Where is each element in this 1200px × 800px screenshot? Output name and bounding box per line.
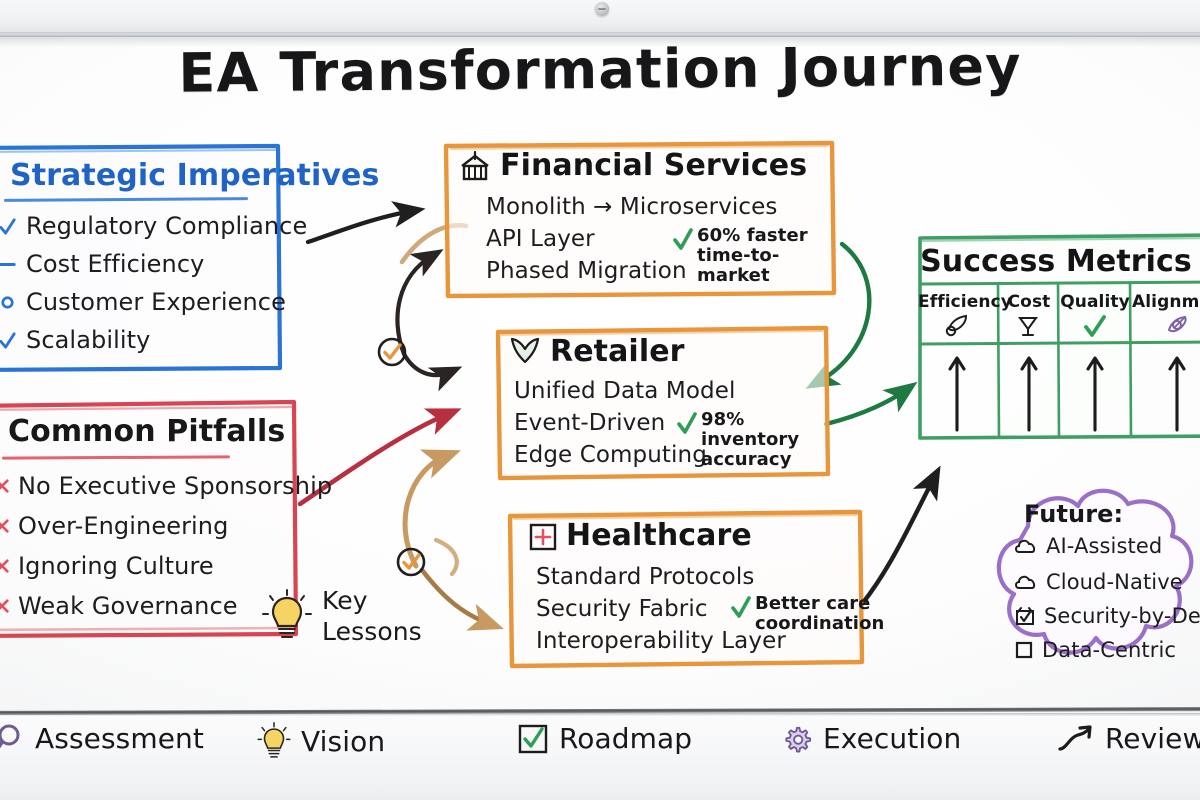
metric-column-header: Alignment: [1132, 292, 1200, 312]
rocket-icon: [944, 314, 970, 338]
case-line: Security Fabric: [536, 596, 708, 622]
check-icon: [0, 217, 17, 236]
pitfalls-item-3[interactable]: Weak Governance: [0, 592, 238, 620]
page-title: EA Transformation Journey: [0, 33, 1200, 106]
up-arrow-icon: [946, 352, 968, 432]
up-arrow-icon: [1018, 352, 1040, 432]
strategic-item-label: Scalability: [26, 326, 150, 354]
shopping-bag-icon: [508, 336, 542, 368]
hospital-icon: [528, 522, 558, 552]
key-lessons-line-2: Lessons: [322, 617, 422, 648]
strategic-item-label: Customer Experience: [26, 288, 286, 316]
metric-column-header: Cost: [1000, 292, 1058, 312]
future-item-1[interactable]: Cloud-Native: [1014, 570, 1183, 594]
strategic-item-3[interactable]: Scalability: [0, 326, 150, 354]
case-card-financial-services: Financial Services Monolith → Microservi…: [440, 138, 838, 300]
trending-up-icon: [1058, 725, 1094, 753]
key-lessons-line-1: Key: [322, 586, 422, 617]
pitfalls-item-label: Weak Governance: [18, 592, 238, 620]
cloud-icon: [1014, 573, 1038, 591]
process-step-roadmap[interactable]: Roadmap: [518, 722, 692, 755]
pitfalls-item-label: Ignoring Culture: [18, 552, 214, 580]
square-icon: [1014, 640, 1034, 660]
strategic-item-label: Regulatory Compliance: [26, 212, 307, 240]
check-icon: [730, 595, 752, 619]
metric-column-header: Quality: [1060, 292, 1130, 312]
pitfalls-item-2[interactable]: Ignoring Culture: [0, 552, 214, 580]
pitfalls-item-0[interactable]: No Executive Sponsorship: [0, 472, 332, 500]
strategic-underline: [4, 197, 248, 202]
case-result-text: 60% faster time-to-market: [697, 226, 838, 286]
process-step-execution[interactable]: Execution: [782, 722, 961, 755]
strategic-item-2[interactable]: Customer Experience: [0, 288, 286, 316]
key-lessons-annotation: Key Lessons: [262, 582, 422, 660]
pitfalls-heading: Common Pitfalls: [8, 414, 285, 449]
case-title: Healthcare: [566, 518, 752, 553]
future-item-label: Security-by-Design: [1044, 604, 1200, 628]
pitfalls-underline: [2, 455, 230, 459]
process-step-label: Execution: [823, 722, 961, 755]
case-line: Monolith → Microservices: [486, 194, 778, 220]
case-title: Retailer: [550, 334, 685, 369]
bank-icon: [458, 150, 492, 184]
pitfalls-item-label: No Executive Sponsorship: [18, 472, 332, 500]
future-item-label: Cloud-Native: [1046, 570, 1183, 594]
shield-check-icon: [1014, 606, 1036, 626]
key-lessons-label: Key Lessons: [322, 586, 422, 647]
dash-icon: [0, 255, 17, 274]
arrow-strategic-to-financial: [308, 211, 412, 242]
strategic-heading: Strategic Imperatives: [10, 158, 379, 193]
process-step-label: Review: [1105, 722, 1200, 755]
strategic-item-1[interactable]: Cost Efficiency: [0, 250, 204, 278]
strategic-imperatives-card: Strategic Imperatives Regulatory Complia…: [0, 142, 286, 374]
metrics-title: Success Metrics: [912, 244, 1200, 279]
target-icon: [1164, 314, 1190, 338]
arrow-retailer-to-metrics: [826, 390, 906, 424]
up-arrow-icon: [1084, 352, 1106, 432]
case-line: Event-Driven: [514, 410, 665, 436]
magnifier-icon: [0, 723, 24, 755]
strategic-item-label: Cost Efficiency: [26, 250, 204, 278]
cross-icon: [0, 598, 10, 614]
case-line: Standard Protocols: [536, 564, 754, 590]
future-item-0[interactable]: AI-Assisted: [1014, 534, 1162, 558]
case-result-text: 98% inventory accuracy: [701, 410, 832, 470]
case-card-healthcare: Healthcare Standard Protocols Security F…: [504, 508, 866, 670]
success-metrics-table: Success Metrics Efficiency Cost Quality: [912, 232, 1200, 440]
process-step-vision[interactable]: Vision: [258, 722, 385, 760]
case-result-badge: 60% faster time-to-market: [672, 226, 838, 286]
case-card-retailer: Retailer Unified Data Model Event-Driven…: [492, 324, 832, 482]
arrow-healthcare-to-metrics: [862, 478, 934, 604]
cross-icon: [0, 478, 10, 494]
case-result-badge: Better care coordination: [730, 594, 884, 634]
future-heading: Future:: [1024, 500, 1123, 528]
future-item-label: Data-Centric: [1042, 638, 1176, 662]
case-line: Phased Migration: [486, 258, 687, 284]
future-cloud-card: Future: AI-Assisted Cloud-Native: [984, 478, 1200, 674]
orange-check-badge-2: [398, 549, 424, 575]
process-step-label: Vision: [301, 725, 385, 758]
future-item-3[interactable]: Data-Centric: [1014, 638, 1176, 662]
up-arrow-icon: [1166, 352, 1188, 432]
case-line: API Layer: [486, 226, 595, 252]
case-title: Financial Services: [500, 148, 807, 183]
check-icon: [0, 331, 17, 350]
process-step-review[interactable]: Review: [1058, 722, 1200, 755]
lightbulb-icon: [258, 722, 290, 760]
future-item-label: AI-Assisted: [1046, 534, 1162, 558]
funnel-icon: [1016, 314, 1040, 338]
process-step-assessment[interactable]: Assessment: [0, 722, 204, 755]
common-pitfalls-card: Common Pitfalls No Executive Sponsorship…: [0, 398, 300, 640]
dot-icon: [0, 293, 17, 312]
check-icon: [676, 411, 698, 435]
strategic-item-0[interactable]: Regulatory Compliance: [0, 212, 307, 240]
pitfalls-item-1[interactable]: Over-Engineering: [0, 512, 228, 540]
screw-icon: [595, 2, 609, 16]
case-line: Unified Data Model: [514, 378, 735, 404]
cross-icon: [0, 518, 10, 534]
orange-check-badge-1: [379, 339, 405, 365]
cloud-icon: [1014, 537, 1038, 555]
process-step-label: Assessment: [35, 722, 204, 755]
check-icon: [672, 227, 694, 251]
case-result-badge: 98% inventory accuracy: [676, 410, 832, 470]
checkbox-icon: [518, 724, 548, 754]
cross-icon: [0, 558, 10, 574]
whiteboard: EA Transformation Journey: [0, 0, 1200, 800]
pitfalls-item-label: Over-Engineering: [18, 512, 228, 540]
check-icon: [1082, 314, 1108, 338]
metric-column-header: Efficiency: [918, 292, 996, 312]
process-step-label: Roadmap: [559, 722, 692, 755]
future-item-2[interactable]: Security-by-Design: [1014, 604, 1200, 628]
lightbulb-icon: [262, 588, 312, 646]
case-result-text: Better care coordination: [755, 594, 884, 634]
gear-icon: [782, 724, 812, 754]
